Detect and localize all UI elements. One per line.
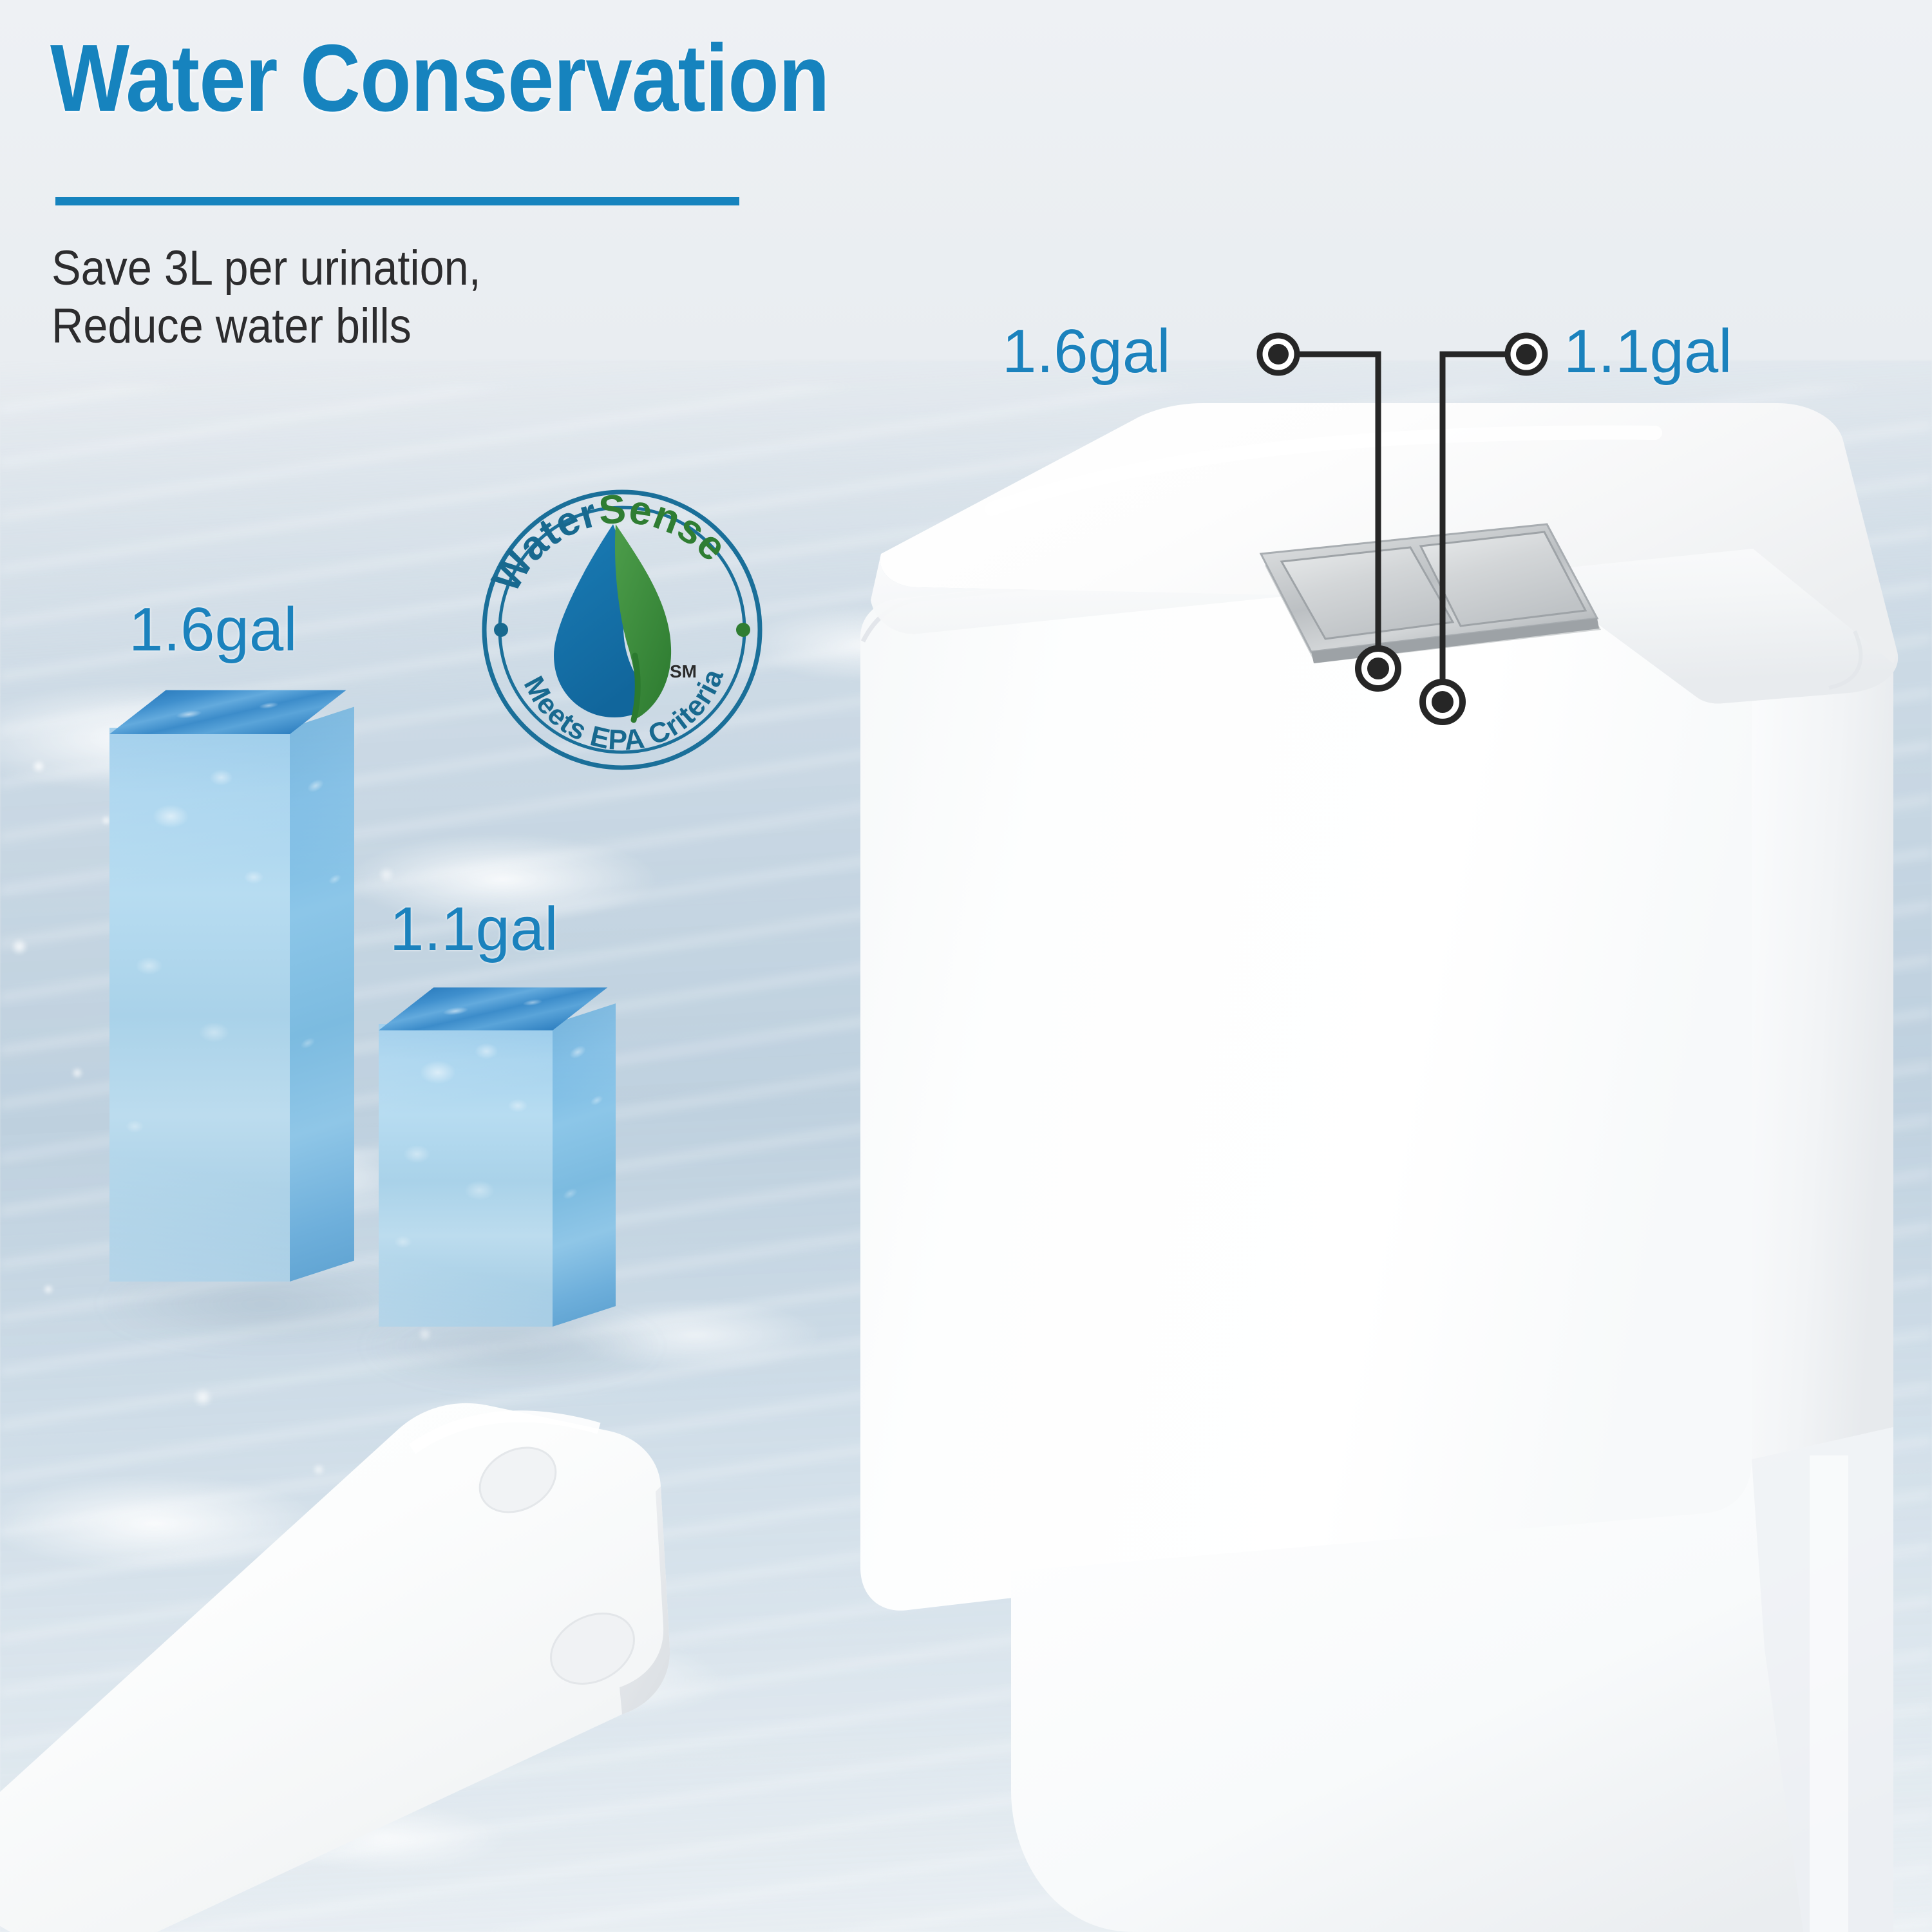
- page-subtitle: Save 3L per urination, Reduce water bill…: [52, 240, 481, 355]
- bar-half-flush: [379, 1024, 553, 1327]
- callout-label-half-flush: 1.1gal: [1564, 321, 1732, 383]
- bar-side-face: [553, 1003, 616, 1327]
- bar-front-face: [109, 728, 290, 1282]
- bar-label-half-flush: 1.1gal: [390, 898, 558, 960]
- infographic-canvas: Water Conservation Save 3L per urination…: [0, 0, 1932, 1932]
- toilet-seat-lid: [0, 1346, 1056, 1932]
- watersense-badge: WaterSense Meets EPA Criteria SM: [477, 484, 768, 775]
- bar-full-flush: [109, 728, 290, 1282]
- badge-trademark: SM: [670, 661, 697, 681]
- bar-label-full-flush: 1.6gal: [129, 599, 298, 661]
- bar-front-face: [379, 1024, 553, 1327]
- title-underline-rule: [55, 197, 739, 205]
- page-title: Water Conservation: [50, 31, 829, 126]
- badge-dot-left: [494, 623, 508, 637]
- callout-label-full-flush: 1.6gal: [1002, 321, 1171, 383]
- bar-side-face: [290, 707, 354, 1282]
- badge-dot-right: [736, 623, 750, 637]
